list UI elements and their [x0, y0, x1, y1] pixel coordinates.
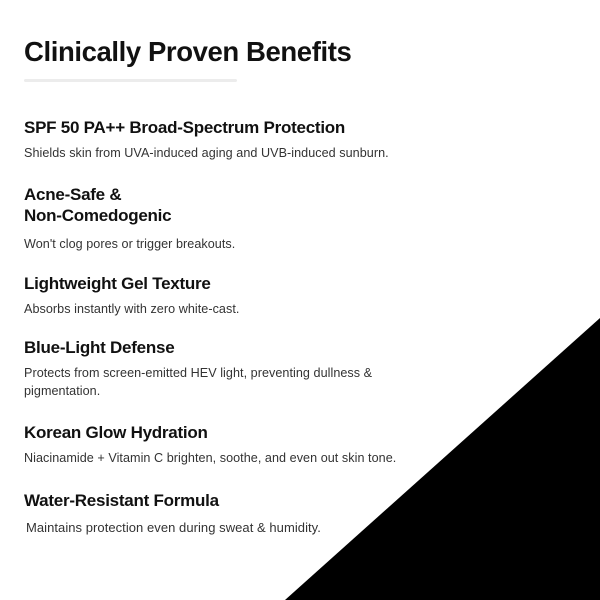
- benefit-heading: Korean Glow Hydration: [24, 423, 576, 444]
- benefit-description: Shields skin from UVA-induced aging and …: [24, 145, 444, 163]
- title-divider: [24, 79, 237, 82]
- benefit-heading: SPF 50 PA++ Broad-Spectrum Protection: [24, 118, 576, 139]
- benefit-description: Absorbs instantly with zero white-cast.: [24, 301, 444, 319]
- benefit-item: Acne-Safe & Non-Comedogenic Won't clog p…: [24, 185, 576, 253]
- benefit-heading: Acne-Safe & Non-Comedogenic: [24, 185, 576, 226]
- benefit-heading: Lightweight Gel Texture: [24, 274, 576, 295]
- benefit-heading: Blue-Light Defense: [24, 338, 576, 359]
- benefit-item: Korean Glow Hydration Niacinamide + Vita…: [24, 423, 576, 468]
- benefit-list: SPF 50 PA++ Broad-Spectrum Protection Sh…: [24, 118, 576, 537]
- benefits-poster: Clinically Proven Benefits SPF 50 PA++ B…: [0, 0, 600, 600]
- benefit-heading: Water-Resistant Formula: [24, 491, 576, 512]
- benefit-item: Water-Resistant Formula Maintains protec…: [24, 491, 576, 537]
- content-column: Clinically Proven Benefits SPF 50 PA++ B…: [0, 0, 600, 537]
- benefit-item: Blue-Light Defense Protects from screen-…: [24, 338, 576, 400]
- benefit-description: Maintains protection even during sweat &…: [26, 519, 446, 537]
- benefit-item: Lightweight Gel Texture Absorbs instantl…: [24, 274, 576, 319]
- benefit-description: Won't clog pores or trigger breakouts.: [24, 236, 444, 254]
- benefit-description: Protects from screen-emitted HEV light, …: [24, 365, 444, 401]
- benefit-description: Niacinamide + Vitamin C brighten, soothe…: [24, 450, 404, 468]
- page-title: Clinically Proven Benefits: [24, 36, 576, 68]
- benefit-item: SPF 50 PA++ Broad-Spectrum Protection Sh…: [24, 118, 576, 163]
